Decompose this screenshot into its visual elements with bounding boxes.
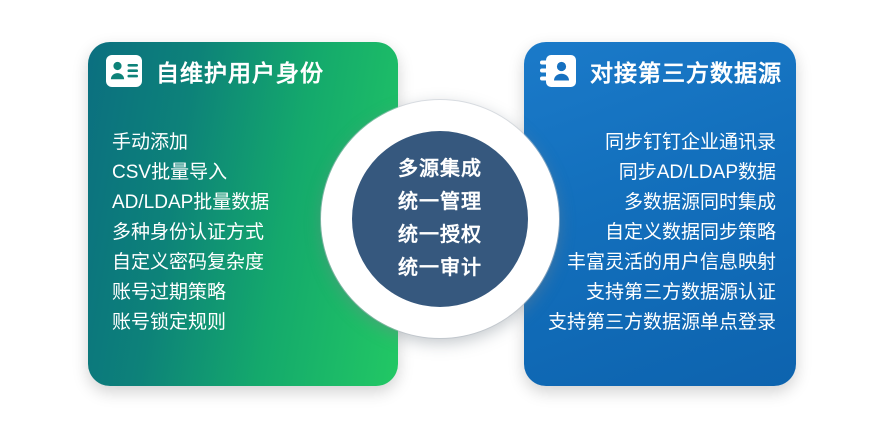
id-card-icon xyxy=(106,54,142,88)
center-circle: 多源集成 统一管理 统一授权 统一审计 xyxy=(352,131,528,307)
left-panel-header: 自维护用户身份 xyxy=(106,54,324,88)
list-item: 同步钉钉企业通讯录 xyxy=(548,128,776,158)
list-item: 自定义数据同步策略 xyxy=(548,218,776,248)
list-item: 账号过期策略 xyxy=(112,278,269,308)
list-item: 丰富灵活的用户信息映射 xyxy=(548,248,776,278)
list-item: 自定义密码复杂度 xyxy=(112,248,269,278)
list-item: 同步AD/LDAP数据 xyxy=(548,158,776,188)
list-item: 统一授权 xyxy=(398,219,482,252)
list-item: 统一审计 xyxy=(398,252,482,285)
right-feature-list: 同步钉钉企业通讯录 同步AD/LDAP数据 多数据源同时集成 自定义数据同步策略… xyxy=(548,128,776,338)
right-panel: 对接第三方数据源 同步钉钉企业通讯录 同步AD/LDAP数据 多数据源同时集成 … xyxy=(524,42,796,386)
list-item: 账号锁定规则 xyxy=(112,308,269,338)
list-item: 手动添加 xyxy=(112,128,269,158)
right-panel-title: 对接第三方数据源 xyxy=(590,54,782,88)
list-item: 支持第三方数据源单点登录 xyxy=(548,308,776,338)
center-feature-list: 多源集成 统一管理 统一授权 统一审计 xyxy=(398,153,482,285)
list-item: 多源集成 xyxy=(398,153,482,186)
left-feature-list: 手动添加 CSV批量导入 AD/LDAP批量数据 多种身份认证方式 自定义密码复… xyxy=(112,128,269,338)
diagram-canvas: 自维护用户身份 手动添加 CSV批量导入 AD/LDAP批量数据 多种身份认证方… xyxy=(0,0,879,432)
left-panel-title: 自维护用户身份 xyxy=(156,54,324,88)
list-item: 多种身份认证方式 xyxy=(112,218,269,248)
address-book-icon xyxy=(540,54,576,88)
list-item: 多数据源同时集成 xyxy=(548,188,776,218)
list-item: AD/LDAP批量数据 xyxy=(112,188,269,218)
list-item: CSV批量导入 xyxy=(112,158,269,188)
list-item: 统一管理 xyxy=(398,186,482,219)
list-item: 支持第三方数据源认证 xyxy=(548,278,776,308)
right-panel-header: 对接第三方数据源 xyxy=(540,54,782,88)
